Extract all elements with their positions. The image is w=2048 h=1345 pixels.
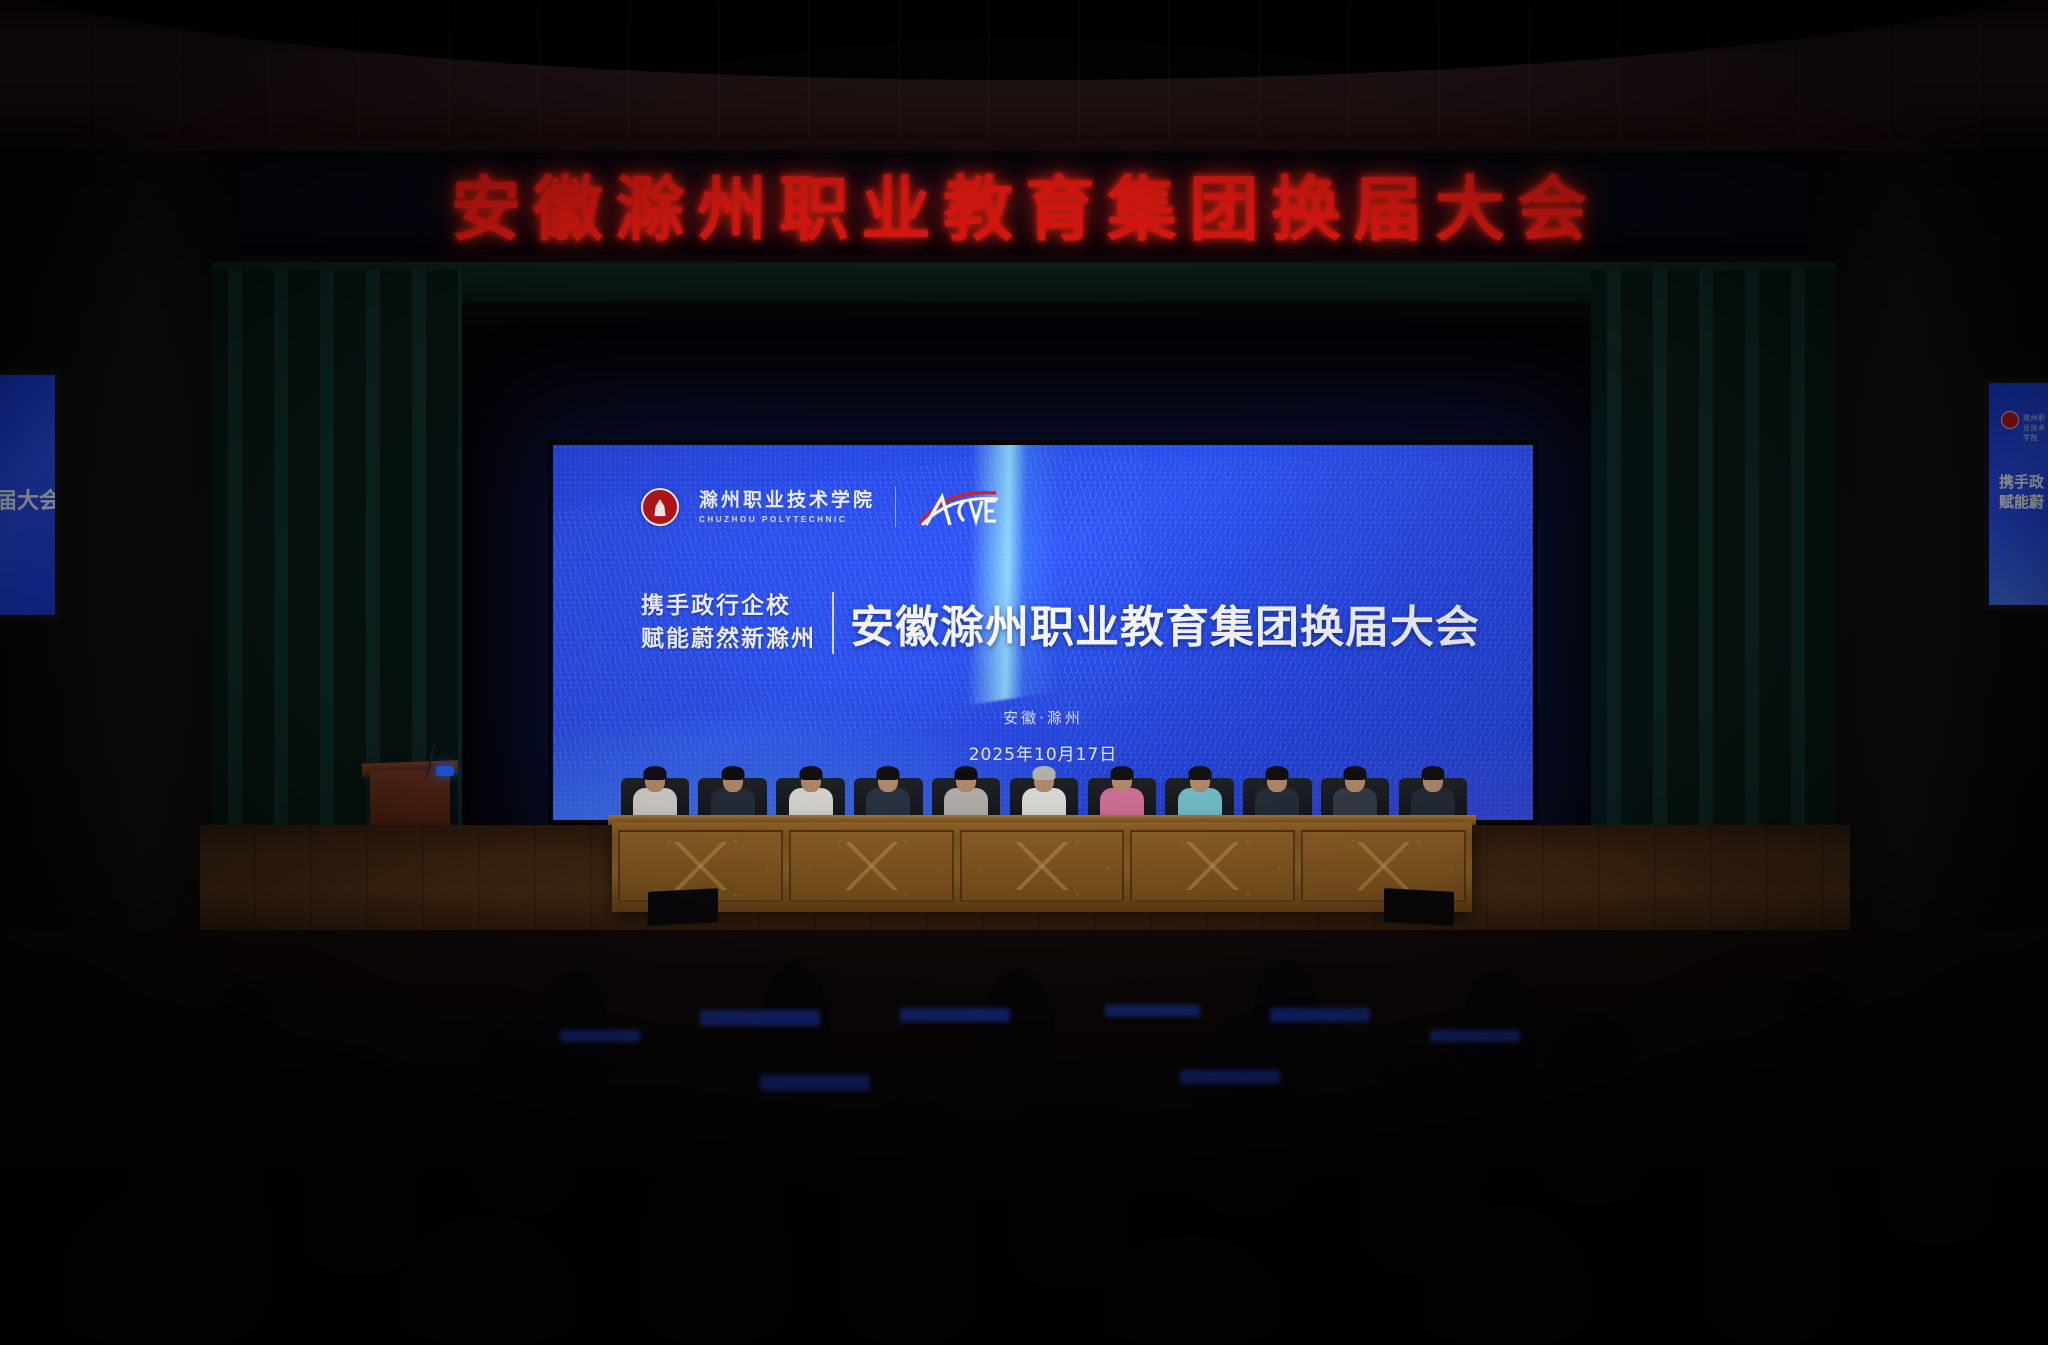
person-hair — [643, 766, 666, 780]
person-hair — [1188, 766, 1211, 780]
side-monitor-seal-label: 滁州职业技术学院 — [2023, 413, 2048, 443]
auditorium-scene: 安徽滁州职业教育集团换届大会 届大会 滁州职业技术学院 携手政 赋能蔚 — [0, 0, 2048, 1345]
audience-house: 3滁州职业技术学院CHUZHOU POLYTECHNIC1滁州职业技术学院CHU… — [0, 930, 2048, 1345]
logo-divider — [895, 487, 896, 527]
university-seal-icon — [641, 488, 679, 526]
screen-footer-block: 安徽·滁州 2025年10月17日 — [553, 707, 1533, 765]
led-banner: 安徽滁州职业教育集团换届大会 — [119, 150, 1932, 258]
university-name-en: CHUZHOU POLYTECHNIC — [699, 515, 875, 525]
audience-attendee — [1540, 1010, 1645, 1205]
person-hair — [799, 766, 822, 780]
desk-led-glow — [700, 1010, 820, 1026]
person-hair — [1266, 766, 1289, 780]
person-hair — [1344, 766, 1367, 780]
side-monitor-left-text: 届大会 — [0, 483, 60, 515]
side-monitor-right: 滁州职业技术学院 携手政 赋能蔚 — [1984, 378, 2048, 610]
head-table-panels — [618, 830, 1466, 902]
audience-attendee — [1700, 1075, 1840, 1345]
audience-attendee — [1880, 1030, 1995, 1245]
person-hair — [1422, 766, 1445, 780]
person-hair — [1032, 766, 1055, 780]
head-table — [612, 822, 1472, 912]
acve-logo-icon — [916, 487, 1002, 527]
audience-attendee — [980, 968, 1055, 1093]
ceiling-ribs — [0, 0, 2048, 150]
audience-attendee — [1010, 1060, 1130, 1290]
desk-led-glow — [1430, 1030, 1520, 1042]
screen-headline-block: 携手政行企校 赋能蔚然新滁州 安徽滁州职业教育集团换届大会 — [641, 590, 1480, 657]
side-monitor-left: 届大会 — [0, 370, 60, 620]
audience-attendee — [300, 1045, 420, 1275]
person-hair — [877, 766, 900, 780]
ceiling-panel — [0, 0, 2048, 150]
screen-slogan-line1: 携手政行企校 — [641, 590, 816, 623]
desk-led-glow — [900, 1008, 1010, 1022]
slogan-divider — [832, 592, 834, 654]
screen-location: 安徽·滁州 — [553, 707, 1533, 728]
audience-attendee — [1250, 962, 1322, 1082]
audience-attendee — [1100, 1235, 1280, 1345]
head-table-panel — [789, 830, 954, 902]
head-table-panel — [1130, 830, 1295, 902]
university-logo-text: 滁州职业技术学院 CHUZHOU POLYTECHNIC — [699, 489, 875, 524]
desk-led-glow — [1105, 1005, 1200, 1017]
side-monitor-right-screen: 滁州职业技术学院 携手政 赋能蔚 — [1989, 383, 2048, 605]
screen-slogan-line2: 赋能蔚然新滁州 — [641, 623, 816, 656]
screen-main-title: 安徽滁州职业教育集团换届大会 — [850, 591, 1480, 655]
audience-attendee — [640, 1125, 790, 1345]
desk-led-glow — [1270, 1008, 1370, 1022]
person-hair — [721, 766, 744, 780]
audience-attendee — [840, 1095, 980, 1345]
screen-logo-row: 滁州职业技术学院 CHUZHOU POLYTECHNIC — [641, 487, 1002, 527]
audience-attendee — [200, 985, 280, 1125]
desk-led-glow — [1180, 1070, 1280, 1084]
desk-led-glow — [560, 1030, 640, 1042]
head-table-panel-diamond — [974, 842, 1109, 891]
audience-attendee — [400, 1215, 575, 1345]
audience-attendee — [1780, 975, 1862, 1110]
desk-led-glow — [760, 1075, 870, 1091]
head-table-panel-diamond — [1145, 842, 1280, 891]
lectern-light — [436, 766, 454, 776]
university-name-cn: 滁州职业技术学院 — [699, 489, 875, 512]
person-hair — [955, 766, 978, 780]
side-monitor-left-screen: 届大会 — [0, 375, 55, 615]
person-hair — [1110, 766, 1133, 780]
head-table-panel-diamond — [633, 842, 768, 891]
side-monitor-seal-icon — [2001, 411, 2019, 429]
stage-floor-monitor-right — [1384, 888, 1454, 926]
head-table-panel — [960, 830, 1125, 902]
led-banner-frame-top — [110, 140, 1940, 150]
stage-floor-monitor-left — [648, 888, 718, 926]
led-banner-text: 安徽滁州职业教育集团换届大会 — [450, 154, 1600, 255]
screen-slogan: 携手政行企校 赋能蔚然新滁州 — [641, 590, 816, 657]
head-table-panel-diamond — [804, 842, 939, 891]
head-table-panel-diamond — [1316, 842, 1451, 891]
